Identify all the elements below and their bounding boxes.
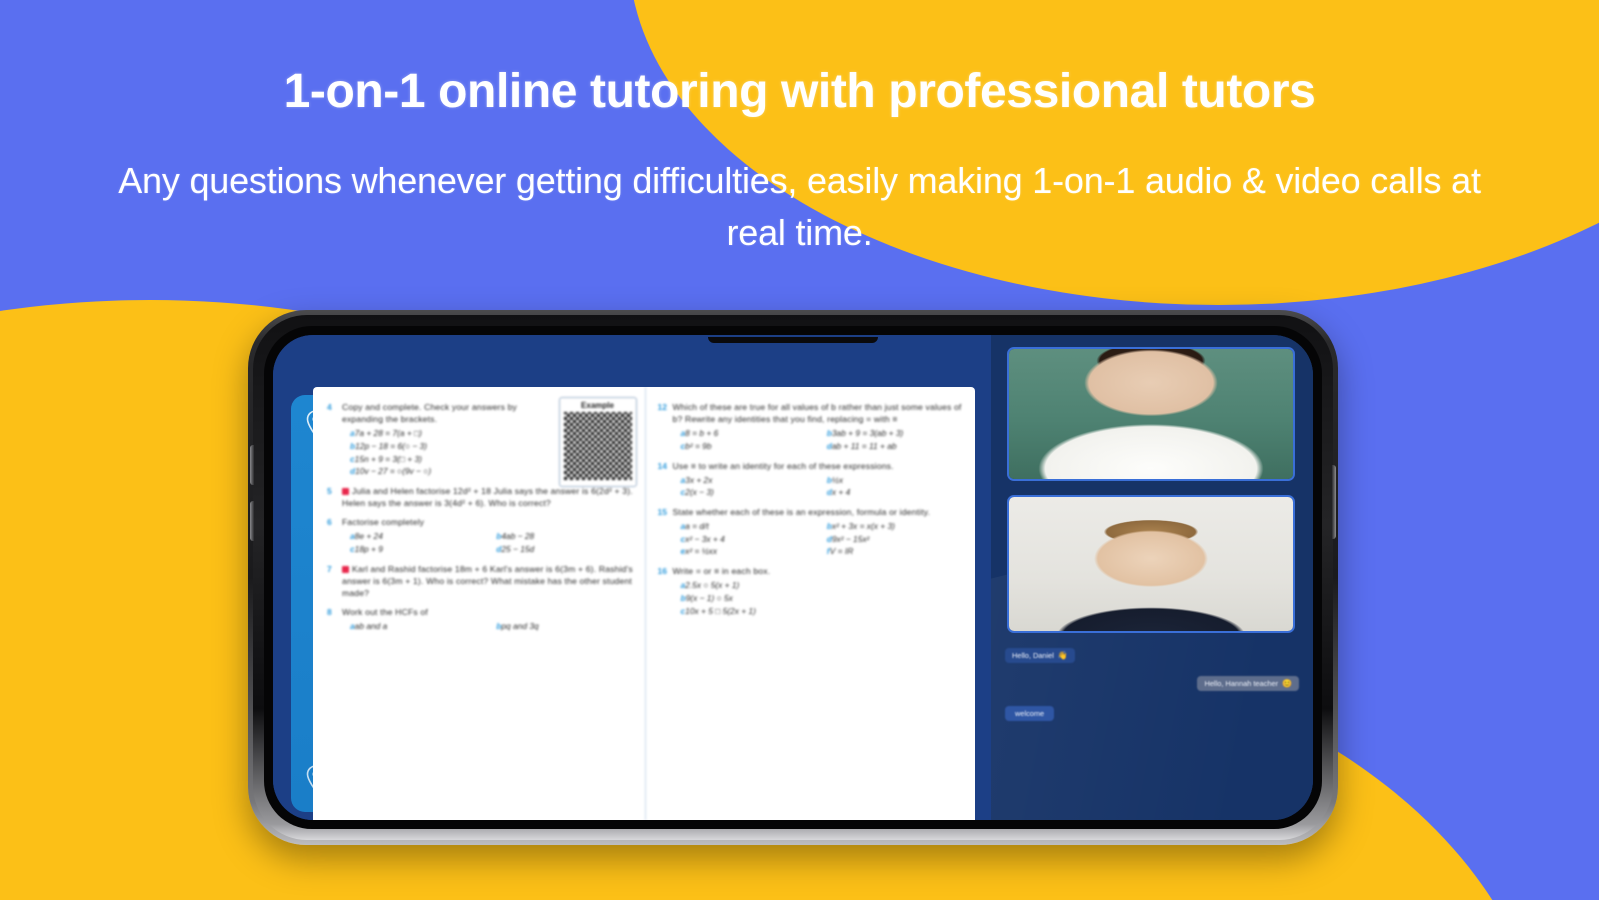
question-part: c2(x − 3) <box>673 486 819 499</box>
question-part: ex² = ½xx <box>673 545 819 558</box>
question-text: Copy and complete. Check your answers by… <box>342 401 548 425</box>
question-text-body: Julia and Helen factorise 12d² + 18 Juli… <box>342 486 633 508</box>
part-letter: f <box>819 545 830 558</box>
student-video-tile[interactable] <box>1007 495 1295 633</box>
question-text: Factorise completely <box>342 516 635 528</box>
part-letter: a <box>673 520 686 533</box>
chat-bubble-incoming[interactable]: Hello, Daniel 👋 <box>1005 648 1075 663</box>
question-part: c18p + 9 <box>342 543 488 556</box>
chat-thread: Hello, Daniel 👋 Hello, Hannah teacher 😊 <box>1005 645 1299 721</box>
question-number: 14 <box>658 460 673 499</box>
question-number: 6 <box>327 516 342 555</box>
part-value: 9x² − 15x² <box>832 533 869 546</box>
question-number: 16 <box>658 565 673 617</box>
part-value: 2.5x ○ 5(x + 1) <box>685 579 739 592</box>
part-letter: a <box>342 530 355 543</box>
part-letter: b <box>819 474 832 487</box>
part-letter: d <box>488 543 501 556</box>
question-parts: a8e + 24 b4ab − 28 c18p + 9 d25 − 15d <box>342 530 635 555</box>
question-part: a8 = b + 6 <box>673 427 819 440</box>
chat-bubble-text: Hello, Hannah teacher <box>1204 679 1278 688</box>
question-number: 15 <box>658 506 673 558</box>
hero-text-block: 1-on-1 online tutoring with professional… <box>0 66 1599 259</box>
question-part: b12p − 18 = 6(○ − 3) <box>342 440 548 453</box>
part-value: 3x + 2x <box>685 474 712 487</box>
part-letter: c <box>673 486 686 499</box>
question-number: 12 <box>658 401 673 453</box>
question-part: b3ab + 9 = 3(ab + 3) <box>819 427 965 440</box>
part-value: 18p + 9 <box>355 543 383 556</box>
question-part: aa = d/t <box>673 520 819 533</box>
part-value: 2(x − 3) <box>685 486 714 499</box>
question-text: Which of these are true for all values o… <box>673 401 966 425</box>
phone-power-button[interactable] <box>1332 465 1336 539</box>
chat-bubble-outgoing[interactable]: Hello, Hannah teacher 😊 <box>1197 676 1299 691</box>
question-item: 6 Factorise completely a8e + 24 b4ab − 2… <box>327 516 635 555</box>
question-item: 8 Work out the HCFs of aab and a bpq and… <box>327 606 635 633</box>
part-value: 8 = b + 6 <box>685 427 718 440</box>
question-item: 12 Which of these are true for all value… <box>658 401 966 453</box>
question-text-body: Karl and Rashid factorise 18m + 6 Karl's… <box>342 564 633 598</box>
chat-bubble-text: welcome <box>1015 709 1044 718</box>
part-letter: b <box>819 520 832 533</box>
part-value: 7a + 28 = 7(a + □) <box>355 427 422 440</box>
question-parts: a2.5x ○ 5(x + 1) b9(x − 1) ○ 5x c10x + 5… <box>673 579 966 617</box>
part-letter: c <box>342 453 355 466</box>
part-letter: b <box>488 620 501 633</box>
part-value: ab + 11 = 11 + ab <box>832 440 897 453</box>
part-letter: e <box>673 545 686 558</box>
question-part: d10v − 27 = ○(9v − ○) <box>342 465 548 478</box>
tutor-video-tile[interactable] <box>1007 347 1295 481</box>
question-parts: aab and a bpq and 3q <box>342 620 635 633</box>
part-letter: c <box>673 605 686 618</box>
example-card[interactable]: Example <box>559 397 637 487</box>
part-value: a = d/t <box>685 520 709 533</box>
part-letter: a <box>673 427 686 440</box>
part-letter: d <box>819 533 832 546</box>
phone-screen: Example 4 Copy and complete. Check your … <box>273 335 1313 820</box>
question-item: 14 Use ≡ to write an identity for each o… <box>658 460 966 499</box>
worksheet-right-column: 12 Which of these are true for all value… <box>645 387 976 820</box>
worksheet-left-column: Example 4 Copy and complete. Check your … <box>313 387 645 820</box>
phone-bezel: Example 4 Copy and complete. Check your … <box>264 326 1322 829</box>
phone-frame-outer: Example 4 Copy and complete. Check your … <box>248 310 1338 845</box>
phone-notch <box>708 337 878 343</box>
question-number: 5 <box>327 485 342 509</box>
question-item: 7 Karl and Rashid factorise 18m + 6 Karl… <box>327 563 635 600</box>
question-text: Write = or ≡ in each box. <box>673 565 966 577</box>
part-value: x² = ½xx <box>685 545 717 558</box>
question-item: 16 Write = or ≡ in each box. a2.5x ○ 5(x… <box>658 565 966 617</box>
question-part: c15n + 9 = 3(□ + 3) <box>342 453 548 466</box>
question-parts: aa = d/t bx² + 3x = x(x + 3) cx² − 3x + … <box>673 520 966 558</box>
phone-frame-band: Example 4 Copy and complete. Check your … <box>253 315 1333 840</box>
part-value: pq and 3q <box>501 620 538 633</box>
question-part: fV = IR <box>819 545 965 558</box>
part-letter: b <box>342 440 355 453</box>
video-call-panel: Hello, Daniel 👋 Hello, Hannah teacher 😊 <box>991 335 1313 820</box>
part-letter: a <box>342 620 355 633</box>
part-value: x² + 3x = x(x + 3) <box>832 520 895 533</box>
part-value: 12p − 18 = 6(○ − 3) <box>355 440 427 453</box>
question-part: a7a + 28 = 7(a + □) <box>342 427 548 440</box>
question-part: d9x² − 15x² <box>819 533 965 546</box>
part-value: 10v − 27 = ○(9v − ○) <box>355 465 431 478</box>
chat-row-incoming: Hello, Daniel 👋 <box>1005 645 1299 663</box>
example-label: Example <box>563 401 633 411</box>
part-value: ½x <box>832 474 843 487</box>
worksheet-page[interactable]: Example 4 Copy and complete. Check your … <box>313 387 975 820</box>
part-value: 10x + 5 □ 5(2x + 1) <box>685 605 756 618</box>
question-text: Use ≡ to write an identity for each of t… <box>673 460 966 472</box>
part-value: 15n + 9 = 3(□ + 3) <box>355 453 422 466</box>
question-text: Karl and Rashid factorise 18m + 6 Karl's… <box>342 563 635 600</box>
part-letter: a <box>673 474 686 487</box>
question-item: 5 Julia and Helen factorise 12d² + 18 Ju… <box>327 485 635 509</box>
question-number: 8 <box>327 606 342 633</box>
question-part: d25 − 15d <box>488 543 634 556</box>
part-letter: d <box>819 440 832 453</box>
question-part: bx² + 3x = x(x + 3) <box>819 520 965 533</box>
part-value: 4ab − 28 <box>501 530 534 543</box>
phone-mockup: Example 4 Copy and complete. Check your … <box>248 310 1338 845</box>
question-part: cb² = 9b <box>673 440 819 453</box>
question-part: a8e + 24 <box>342 530 488 543</box>
part-letter: d <box>819 486 832 499</box>
chat-bubble-welcome[interactable]: welcome <box>1005 706 1054 721</box>
reasoning-flag-icon <box>342 488 349 495</box>
part-value: 9(x − 1) ○ 5x <box>686 592 733 605</box>
question-parts: a8 = b + 6 b3ab + 9 = 3(ab + 3) cb² = 9b… <box>673 427 966 452</box>
part-letter: a <box>342 427 355 440</box>
part-letter: b <box>819 427 832 440</box>
part-letter: b <box>488 530 501 543</box>
part-value: x + 4 <box>832 486 850 499</box>
part-letter: b <box>673 592 686 605</box>
qr-code-icon[interactable] <box>564 412 632 480</box>
part-value: ab and a <box>355 620 388 633</box>
question-text: State whether each of these is an expres… <box>673 506 966 518</box>
wave-emoji-icon: 👋 <box>1058 651 1068 660</box>
question-part: dx + 4 <box>819 486 965 499</box>
part-letter: a <box>673 579 686 592</box>
question-parts: a7a + 28 = 7(a + □) b12p − 18 = 6(○ − 3)… <box>342 427 548 477</box>
question-number: 4 <box>327 401 342 478</box>
page-title: 1-on-1 online tutoring with professional… <box>90 66 1509 119</box>
question-part: b9(x − 1) ○ 5x <box>673 592 966 605</box>
question-part: a3x + 2x <box>673 474 819 487</box>
part-value: 25 − 15d <box>501 543 534 556</box>
question-item: 4 Copy and complete. Check your answers … <box>327 401 548 478</box>
phone-volume-down-button[interactable] <box>250 501 254 541</box>
part-value: 3ab + 9 = 3(ab + 3) <box>832 427 903 440</box>
part-letter: d <box>342 465 355 478</box>
question-part: aab and a <box>342 620 488 633</box>
part-letter: c <box>342 543 355 556</box>
tutor-video-feed <box>1009 349 1293 479</box>
question-part: b½x <box>819 474 965 487</box>
part-value: b² = 9b <box>685 440 711 453</box>
part-letter: c <box>673 440 686 453</box>
question-text: Work out the HCFs of <box>342 606 635 618</box>
question-part: bpq and 3q <box>488 620 634 633</box>
part-value: V = IR <box>830 545 854 558</box>
worksheet-area: Example 4 Copy and complete. Check your … <box>273 335 991 820</box>
question-part: cx² − 3x + 4 <box>673 533 819 546</box>
part-value: x² − 3x + 4 <box>685 533 725 546</box>
phone-volume-up-button[interactable] <box>250 445 254 485</box>
student-video-feed <box>1009 497 1293 631</box>
question-item: 15 State whether each of these is an exp… <box>658 506 966 558</box>
question-part: b4ab − 28 <box>488 530 634 543</box>
reasoning-flag-icon <box>342 566 349 573</box>
question-part: a2.5x ○ 5(x + 1) <box>673 579 966 592</box>
chat-bubble-text: Hello, Daniel <box>1012 651 1054 660</box>
question-part: c10x + 5 □ 5(2x + 1) <box>673 605 966 618</box>
question-part: dab + 11 = 11 + ab <box>819 440 965 453</box>
smile-emoji-icon: 😊 <box>1282 679 1292 688</box>
question-text: Julia and Helen factorise 12d² + 18 Juli… <box>342 485 635 509</box>
part-value: 8e + 24 <box>355 530 383 543</box>
page-subtitle: Any questions whenever getting difficult… <box>90 155 1509 259</box>
question-number: 7 <box>327 563 342 600</box>
chat-row-outgoing: Hello, Hannah teacher 😊 <box>1005 673 1299 691</box>
part-letter: c <box>673 533 686 546</box>
chat-row-tag: welcome <box>1005 703 1299 721</box>
question-parts: a3x + 2x b½x c2(x − 3) dx + 4 <box>673 474 966 499</box>
